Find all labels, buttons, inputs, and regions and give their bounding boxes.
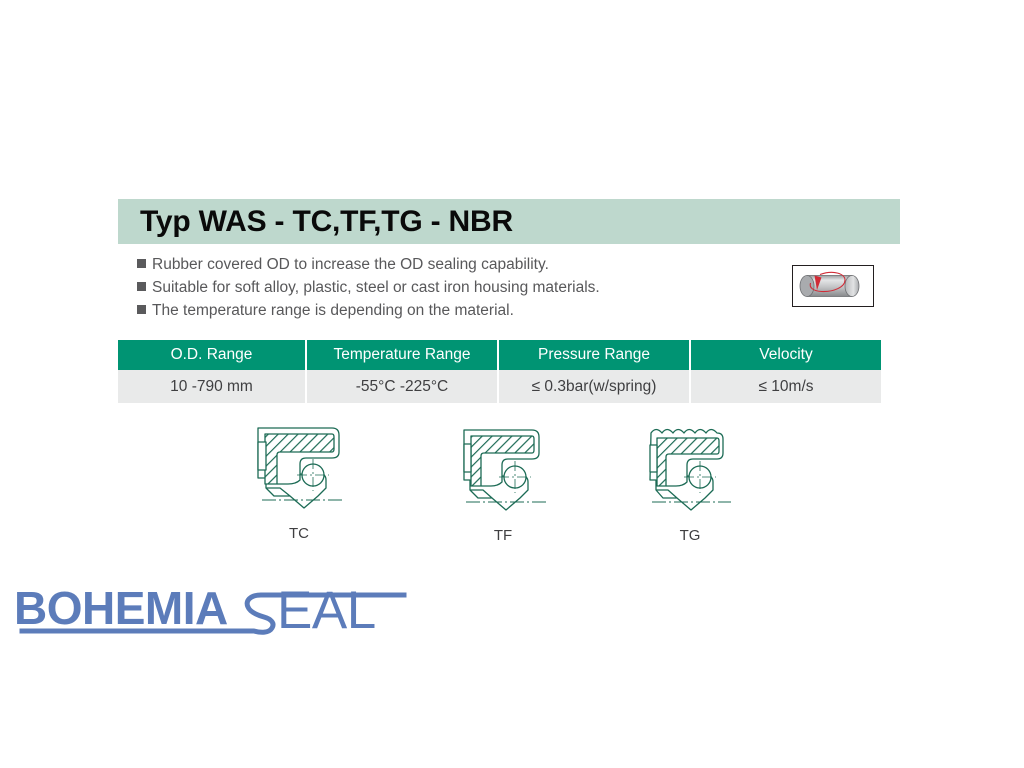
list-item: Rubber covered OD to increase the OD sea…: [137, 256, 757, 279]
rotating-shaft-glyph: [793, 266, 872, 305]
rotating-shaft-icon: [792, 265, 874, 307]
seal-label-tc: TC: [214, 525, 384, 542]
column-header-pressure-range: Pressure Range: [498, 340, 690, 370]
list-item: Suitable for soft alloy, plastic, steel …: [137, 279, 757, 302]
logo-text-eal: EAL: [277, 581, 376, 640]
bohemia-seal-logo-glyph: BOHEMIA EAL: [14, 578, 414, 646]
seal-cross-section-tc-glyph: [244, 418, 354, 518]
bohemia-seal-logo: BOHEMIA EAL: [14, 578, 414, 646]
seal-diagram-tg: TG: [605, 420, 775, 544]
list-item-label: Suitable for soft alloy, plastic, steel …: [152, 279, 600, 297]
table-header-row: O.D. Range Temperature Range Pressure Ra…: [118, 340, 881, 370]
column-header-velocity: Velocity: [690, 340, 881, 370]
square-bullet-icon: [137, 259, 146, 268]
feature-list: Rubber covered OD to increase the OD sea…: [137, 256, 757, 325]
cell-pressure-range: ≤ 0.3bar(w/spring): [498, 370, 690, 403]
seal-label-tg: TG: [605, 527, 775, 544]
seal-cross-section-tf-glyph: [448, 420, 558, 520]
cell-velocity: ≤ 10m/s: [690, 370, 881, 403]
cell-temperature-range: -55°C -225°C: [306, 370, 498, 403]
list-item: The temperature range is depending on th…: [137, 302, 757, 325]
column-header-od-range: O.D. Range: [118, 340, 306, 370]
page-title: Typ WAS - TC,TF,TG - NBR: [140, 205, 513, 239]
seal-diagram-tf: TF: [418, 420, 588, 544]
seal-diagram-tc: TC: [214, 418, 384, 542]
title-band: Typ WAS - TC,TF,TG - NBR: [118, 199, 900, 244]
column-header-temperature-range: Temperature Range: [306, 340, 498, 370]
cell-od-range: 10 -790 mm: [118, 370, 306, 403]
list-item-label: The temperature range is depending on th…: [152, 302, 514, 320]
table-row: 10 -790 mm -55°C -225°C ≤ 0.3bar(w/sprin…: [118, 370, 881, 403]
square-bullet-icon: [137, 305, 146, 314]
list-item-label: Rubber covered OD to increase the OD sea…: [152, 256, 549, 274]
seal-diagram-group: TC TF: [118, 418, 875, 553]
square-bullet-icon: [137, 282, 146, 291]
seal-label-tf: TF: [418, 527, 588, 544]
seal-cross-section-tg-glyph: [635, 420, 745, 520]
specification-table: O.D. Range Temperature Range Pressure Ra…: [118, 340, 881, 403]
logo-text-bohemia: BOHEMIA: [14, 582, 228, 634]
